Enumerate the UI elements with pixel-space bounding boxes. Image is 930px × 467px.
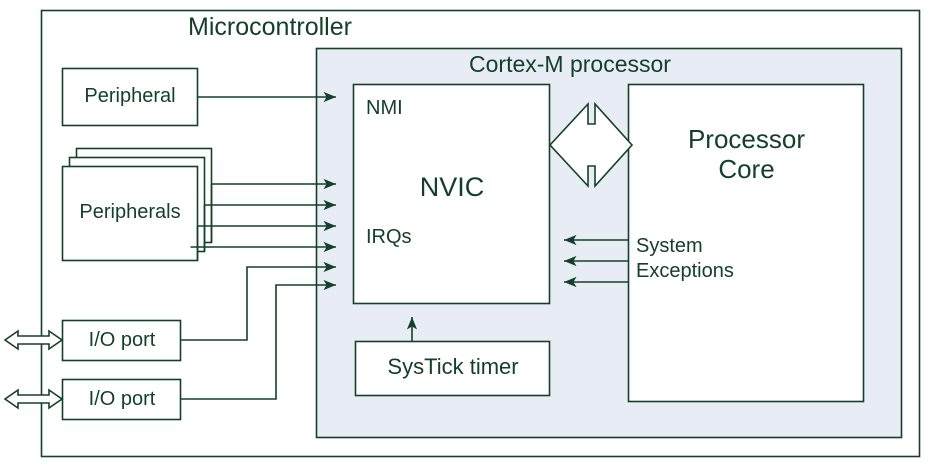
processor-core-block: [629, 85, 864, 402]
io-port-2-block: [63, 380, 181, 420]
io-port-1-block: [63, 321, 181, 361]
diagram-vector-layer: [0, 0, 930, 467]
diagram-canvas: Microcontroller Cortex-M processor Perip…: [0, 0, 930, 467]
peripherals-stack-layer-front: [63, 167, 198, 261]
io-port-2-external-bus-arrow: [5, 390, 62, 408]
systick-timer-block: [356, 342, 550, 396]
io-port-1-external-bus-arrow: [5, 331, 62, 349]
peripheral-block: [63, 69, 198, 126]
nvic-block: [354, 85, 550, 304]
